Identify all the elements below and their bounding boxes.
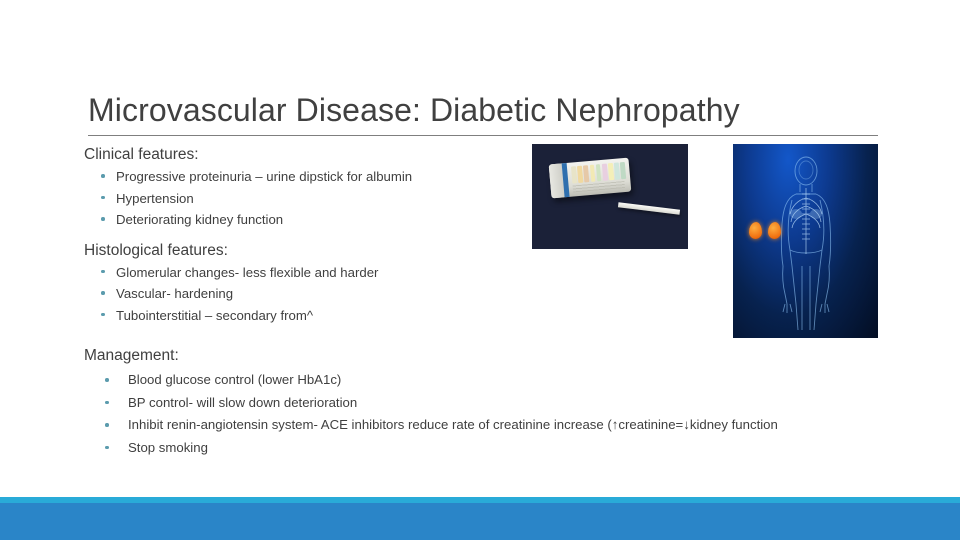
list-item-label: Stop smoking	[128, 440, 208, 455]
colour-pad	[571, 166, 577, 183]
list-item-label: Inhibit renin-angiotensin system- ACE in…	[128, 417, 778, 432]
colour-pad	[596, 164, 602, 181]
bullet-icon	[105, 423, 109, 427]
list-item: Tubointerstitial – secondary from^	[84, 305, 524, 327]
body-outline-icon	[774, 154, 838, 332]
bullet-icon	[105, 378, 109, 382]
list-item-label: Vascular- hardening	[116, 286, 233, 301]
list-item-label: Glomerular changes- less flexible and ha…	[116, 265, 378, 280]
list-item: Hypertension	[84, 188, 524, 210]
content-management: Management: Blood glucose control (lower…	[84, 345, 884, 457]
list-item-label: BP control- will slow down deterioration	[128, 395, 357, 410]
bullet-icon	[101, 313, 105, 317]
kidney-highlight-right	[768, 222, 781, 239]
colour-pad	[577, 166, 583, 183]
list-item: Blood glucose control (lower HbA1c)	[84, 370, 884, 390]
section-heading-clinical: Clinical features:	[84, 144, 524, 166]
section-heading-histological: Histological features:	[84, 240, 524, 262]
bullet-list-management: Blood glucose control (lower HbA1c) BP c…	[84, 370, 884, 457]
list-item: BP control- will slow down deterioration	[84, 393, 884, 413]
colour-pad	[583, 165, 589, 182]
page-title: Microvascular Disease: Diabetic Nephropa…	[88, 88, 880, 132]
colour-pad	[602, 164, 608, 181]
colour-pad	[589, 165, 595, 182]
kidney-anatomy-photo	[733, 144, 878, 338]
slide: Microvascular Disease: Diabetic Nephropa…	[0, 0, 960, 540]
bullet-icon	[101, 217, 105, 221]
bullet-icon	[101, 196, 105, 200]
list-item-label: Tubointerstitial – secondary from^	[116, 308, 313, 323]
bullet-icon	[101, 291, 105, 295]
bullet-icon	[101, 174, 105, 178]
dipstick-bottle	[549, 158, 632, 199]
bullet-icon	[105, 446, 109, 450]
test-strip	[618, 202, 680, 215]
list-item-label: Progressive proteinuria – urine dipstick…	[116, 169, 412, 184]
bullet-icon	[101, 270, 105, 274]
list-item: Vascular- hardening	[84, 283, 524, 305]
colour-pad	[614, 162, 620, 179]
section-heading-management: Management:	[84, 345, 884, 367]
title-divider	[88, 135, 878, 136]
list-item-label: Hypertension	[116, 191, 194, 206]
content-body: Clinical features: Progressive proteinur…	[84, 144, 524, 326]
colour-pad	[608, 163, 614, 180]
bullet-list-clinical: Progressive proteinuria – urine dipstick…	[84, 166, 524, 231]
bullet-list-histological: Glomerular changes- less flexible and ha…	[84, 262, 524, 327]
urine-dipstick-photo	[532, 144, 688, 249]
colour-pad	[620, 162, 626, 179]
list-item: Stop smoking	[84, 438, 884, 458]
bullet-icon	[105, 401, 109, 405]
list-item: Deteriorating kidney function	[84, 209, 524, 231]
colour-comparison-chart	[571, 162, 626, 184]
footer-bar	[0, 503, 960, 540]
list-item: Progressive proteinuria – urine dipstick…	[84, 166, 524, 188]
list-item: Glomerular changes- less flexible and ha…	[84, 262, 524, 284]
kidney-highlight-left	[749, 222, 762, 239]
list-item: Inhibit renin-angiotensin system- ACE in…	[84, 415, 884, 435]
list-item-label: Blood glucose control (lower HbA1c)	[128, 372, 341, 387]
list-item-label: Deteriorating kidney function	[116, 212, 283, 227]
